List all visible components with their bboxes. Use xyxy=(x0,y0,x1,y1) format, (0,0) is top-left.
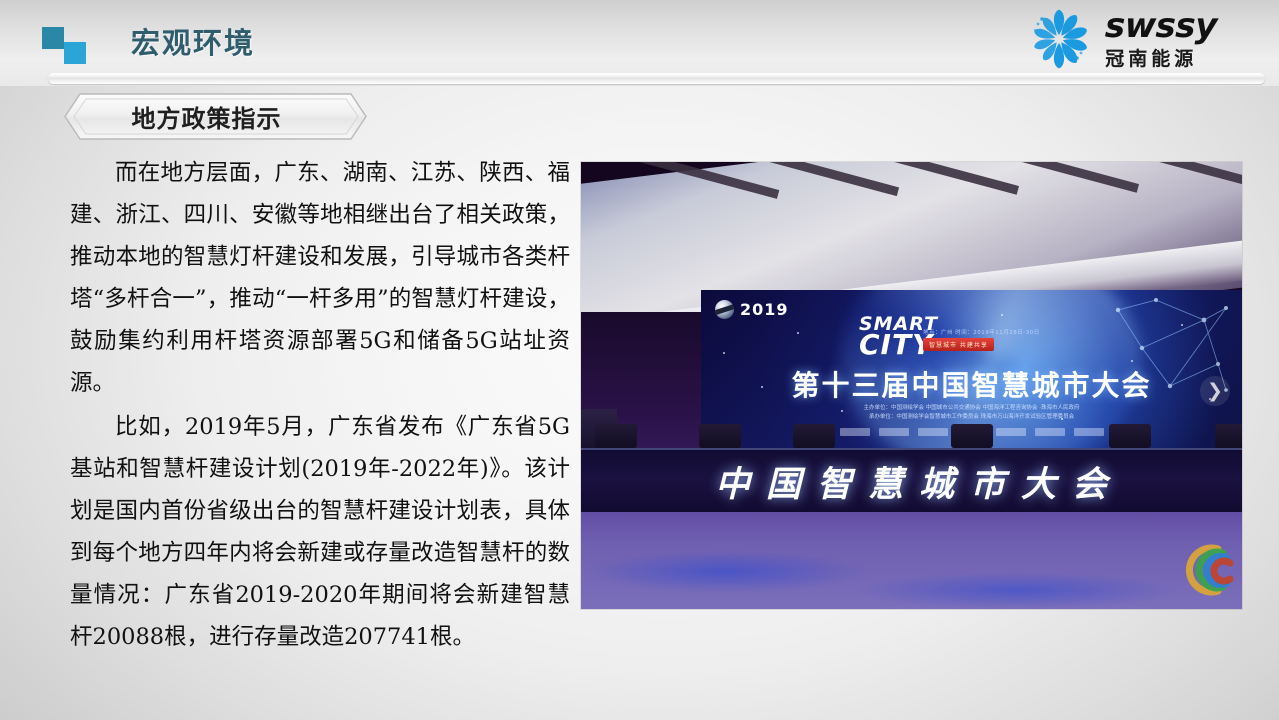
section-banner: 地方政策指示 xyxy=(64,93,367,140)
stage-front-panel: 中国智慧城市大会 xyxy=(581,448,1242,512)
water-droplet-flower-emblem-icon xyxy=(1025,6,1093,72)
led-smartcity-wordmark: SMART CITY xyxy=(859,316,938,357)
stage-monitor xyxy=(699,424,741,448)
body-text-block: 而在地方层面，广东、湖南、江苏、陕西、福建、浙江、四川、安徽等地相继出台了相关政… xyxy=(70,152,570,660)
stage-monitor xyxy=(595,424,637,448)
globe-icon xyxy=(715,300,734,319)
slide-header: 宏观环境 xyxy=(0,0,1279,86)
led-organizers-line-1: 主办单位：中国测绘学会 中国城市公共交通协会 中国海洋工程咨询协会 ·珠海市人民… xyxy=(864,404,1080,413)
led-date-line: 地点：广州 时间：2019年11月28日-30日 xyxy=(923,328,1040,336)
brand-name: swssy xyxy=(1105,9,1218,43)
header-divider xyxy=(48,73,1265,84)
brand-name-cn: 冠南能源 xyxy=(1105,50,1217,69)
stage-front-text: 中国智慧城市大会 xyxy=(581,450,1242,512)
led-slogan-tag: 智慧城市 共建共享 xyxy=(923,338,994,351)
led-year: 2019 xyxy=(740,300,789,319)
led-organizers: 主办单位：中国测绘学会 中国城市公共交通协会 中国海洋工程咨询协会 ·珠海市人民… xyxy=(864,404,1080,422)
stage-monitor xyxy=(793,424,835,448)
stage-monitor xyxy=(1215,424,1242,448)
stage-monitor xyxy=(951,424,993,448)
led-year-logo: 2019 xyxy=(715,300,789,319)
decor-square-dark-icon xyxy=(42,27,64,49)
brand-logo-text: swssy 冠南能源 xyxy=(1105,9,1217,69)
led-organizers-line-2: 承办单位：中国测绘学会智慧城市工作委员会 珠海市万山海洋开发试验区管理委员会 xyxy=(864,413,1080,422)
paragraph: 而在地方层面，广东、湖南、江苏、陕西、福建、浙江、四川、安徽等地相继出台了相关政… xyxy=(70,152,570,404)
paragraph: 比如，2019年5月，广东省发布《广东省5G基站和智慧杆建设计划(2019年-2… xyxy=(70,406,570,658)
next-image-arrow-icon[interactable]: ❯ xyxy=(1200,376,1230,406)
conference-photo: 2019 SMART CITY 地点：广州 时间：2019年11月28日-30日… xyxy=(581,162,1242,609)
section-banner-label: 地方政策指示 xyxy=(64,93,367,140)
decor-square-light-icon xyxy=(64,42,86,64)
stage-monitor xyxy=(1109,424,1151,448)
brand-logo: swssy 冠南能源 xyxy=(1025,6,1217,72)
colored-rings-logo-icon xyxy=(1174,539,1236,601)
slide-root: 宏观环境 xyxy=(0,0,1279,720)
led-main-title: 第十三届中国智慧城市大会 xyxy=(791,364,1151,404)
page-title: 宏观环境 xyxy=(131,20,255,62)
